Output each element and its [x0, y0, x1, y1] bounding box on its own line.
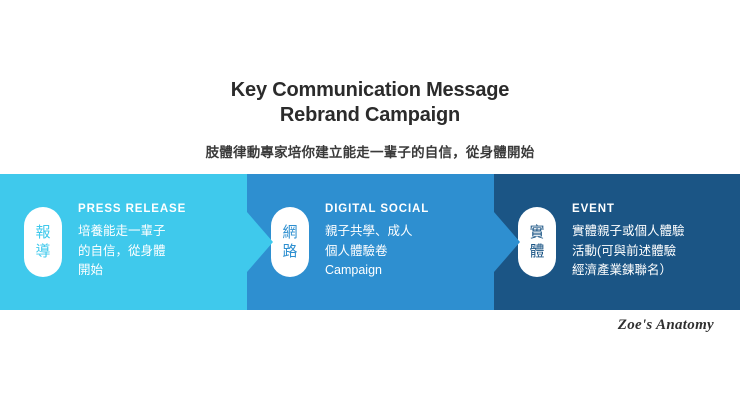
step-text-event: EVENT 實體親子或個人體驗 活動(可與前述體驗 經濟產業鍊聯名） — [572, 203, 685, 281]
step-text-digital-social: DIGITAL SOCIAL 親子共學、成人 個人體驗卷 Campaign — [325, 203, 429, 281]
badge-char-top: 報 — [35, 223, 50, 242]
flow-step-press-release: 報 導 PRESS RELEASE 培養能走一輩子 的自信，從身體 開始 — [0, 174, 247, 310]
footer: Zoe's Anatomy — [0, 316, 740, 334]
step-body-line: 經濟產業鍊聯名） — [572, 261, 685, 281]
step-badge-event: 實 體 — [518, 207, 556, 277]
badge-char-top: 實 — [529, 223, 544, 242]
badge-char-bottom: 路 — [282, 242, 297, 261]
flow-step-event: 實 體 EVENT 實體親子或個人體驗 活動(可與前述體驗 經濟產業鍊聯名） — [494, 174, 740, 310]
page-title-line-1: Key Communication Message — [231, 79, 509, 101]
step-text-press-release: PRESS RELEASE 培養能走一輩子 的自信，從身體 開始 — [78, 203, 186, 281]
step-body-line: 親子共學、成人 — [325, 222, 429, 242]
page-header: Key Communication Message Rebrand Campai… — [0, 0, 740, 161]
step-body-line: 培養能走一輩子 — [78, 222, 186, 242]
badge-char-bottom: 導 — [35, 242, 50, 261]
flow-step-digital-social: 網 路 DIGITAL SOCIAL 親子共學、成人 個人體驗卷 Campaig… — [247, 174, 494, 310]
page-subtitle: 肢體律動專家培你建立能走一輩子的自信，從身體開始 — [0, 128, 740, 161]
step-body-line: 開始 — [78, 261, 186, 281]
step-body-line: 活動(可與前述體驗 — [572, 242, 685, 262]
step-heading: EVENT — [572, 203, 685, 215]
step-heading: DIGITAL SOCIAL — [325, 203, 429, 215]
step-body-line: 的自信，從身體 — [78, 242, 186, 262]
brand-wordmark: Zoe's Anatomy — [618, 317, 714, 333]
step-badge-digital-social: 網 路 — [271, 207, 309, 277]
page-title: Key Communication Message Rebrand Campai… — [0, 78, 740, 128]
badge-char-bottom: 體 — [529, 242, 544, 261]
badge-char-top: 網 — [282, 223, 297, 242]
process-flow-band: 報 導 PRESS RELEASE 培養能走一輩子 的自信，從身體 開始 網 路… — [0, 174, 740, 310]
step-body-line: 個人體驗卷 — [325, 242, 429, 262]
step-heading: PRESS RELEASE — [78, 203, 186, 215]
step-body-line: Campaign — [325, 261, 429, 281]
step-badge-press-release: 報 導 — [24, 207, 62, 277]
page-title-line-2: Rebrand Campaign — [280, 104, 460, 126]
step-body-line: 實體親子或個人體驗 — [572, 222, 685, 242]
